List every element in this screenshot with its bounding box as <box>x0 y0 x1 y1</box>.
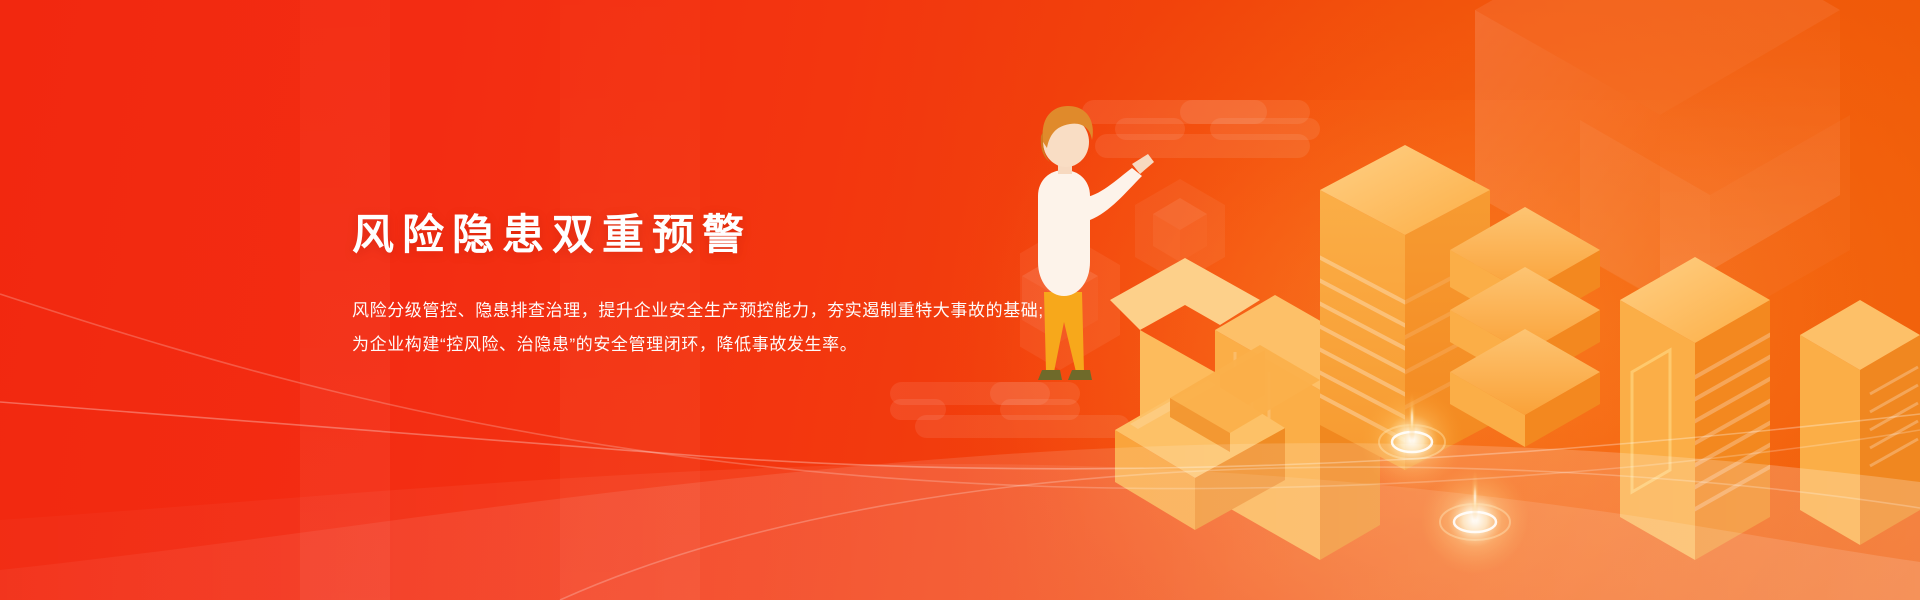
glow-light-point-1 <box>1360 388 1464 492</box>
wave-fill-back <box>0 464 1920 600</box>
wave-line-1 <box>0 402 1920 469</box>
front-low-box <box>1115 378 1285 530</box>
tower-stacked-plates <box>1450 207 1600 447</box>
tower-main <box>1315 145 1495 470</box>
wave-line-3 <box>560 467 1920 600</box>
ghost-blocks <box>1475 0 1850 330</box>
hero-banner: 风险隐患双重预警 风险分级管控、隐患排查治理，提升企业安全生产预控能力，夯实遏制… <box>0 0 1920 600</box>
tower-right <box>1620 257 1775 560</box>
subtitle-line-1: 风险分级管控、隐患排查治理，提升企业安全生产预控能力，夯实遏制重特大事故的基础; <box>352 294 1252 328</box>
cloud-motif-bottom <box>890 382 1145 440</box>
wave-fill-front <box>0 443 1920 600</box>
cloud-motif-top <box>1060 100 1320 160</box>
subtitle-block: 风险分级管控、隐患排查治理，提升企业安全生产预控能力，夯实遏制重特大事故的基础;… <box>352 294 1252 362</box>
tower-far-right <box>1800 300 1920 545</box>
glow-light-point-2 <box>1421 466 1529 574</box>
hero-copy: 风险隐患双重预警 风险分级管控、隐患排查治理，提升企业安全生产预控能力，夯实遏制… <box>352 212 1252 362</box>
subtitle-line-2: 为企业构建“控风险、治隐患”的安全管理闭环，降低事故发生率。 <box>352 328 1252 362</box>
page-title: 风险隐患双重预警 <box>352 212 1252 258</box>
